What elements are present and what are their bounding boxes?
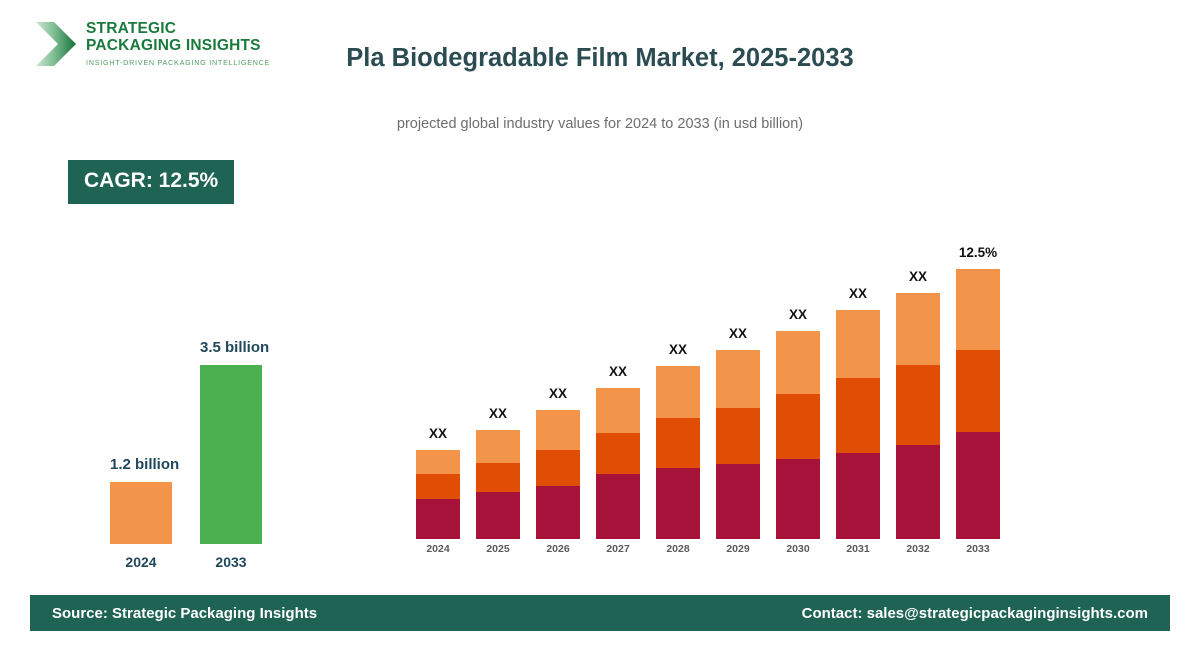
stacked-bar-segment[interactable] — [956, 350, 1000, 432]
footer-contact[interactable]: Contact: sales@strategicpackaginginsight… — [802, 605, 1148, 622]
stacked-bar-value: XX — [596, 364, 640, 379]
stacked-bar-label: 2028 — [656, 543, 700, 555]
stacked-bar-group: XX2027 — [596, 364, 640, 555]
stacked-bar[interactable] — [536, 410, 580, 539]
stacked-bar-label: 2027 — [596, 543, 640, 555]
stacked-bar-segment[interactable] — [716, 464, 760, 539]
stacked-bar-segment[interactable] — [536, 410, 580, 450]
stacked-bar-segment[interactable] — [536, 450, 580, 486]
stacked-bar-group: XX2029 — [716, 326, 760, 555]
stacked-bar-label: 2033 — [956, 543, 1000, 555]
stacked-bar[interactable] — [596, 388, 640, 539]
comparison-bar-group: 3.5 billion2033 — [200, 339, 262, 570]
cagr-badge: CAGR: 12.5% — [68, 160, 234, 204]
stacked-bar-group: XX2026 — [536, 386, 580, 555]
stacked-bar-value: XX — [896, 269, 940, 284]
comparison-bar-value: 3.5 billion — [200, 339, 262, 356]
comparison-bar-chart: 1.2 billion20243.5 billion2033 — [55, 300, 265, 570]
stacked-bar-group: XX2030 — [776, 307, 820, 555]
comparison-bar-group: 1.2 billion2024 — [110, 456, 172, 570]
stacked-bar-value: 12.5% — [956, 245, 1000, 260]
stacked-bar-value: XX — [536, 386, 580, 401]
stacked-bar-value: XX — [476, 406, 520, 421]
comparison-bar-label: 2033 — [200, 554, 262, 570]
page-title: Pla Biodegradable Film Market, 2025-2033 — [0, 44, 1200, 73]
stacked-bar-segment[interactable] — [896, 445, 940, 539]
stacked-bar[interactable] — [836, 310, 880, 539]
stacked-bar-label: 2030 — [776, 543, 820, 555]
stacked-bar-segment[interactable] — [656, 468, 700, 539]
stacked-bar-segment[interactable] — [956, 432, 1000, 539]
stacked-bar-segment[interactable] — [656, 418, 700, 468]
stacked-bar-segment[interactable] — [716, 350, 760, 408]
stacked-bar-group: 12.5%2033 — [956, 245, 1000, 555]
stacked-bar-segment[interactable] — [836, 310, 880, 378]
stacked-bar-group: XX2032 — [896, 269, 940, 555]
stacked-bar-group: XX2025 — [476, 406, 520, 555]
stacked-bar-group: XX2031 — [836, 286, 880, 555]
comparison-bar-value: 1.2 billion — [110, 456, 172, 473]
stacked-bar[interactable] — [476, 430, 520, 539]
comparison-bar[interactable] — [200, 365, 262, 544]
stacked-bar-value: XX — [836, 286, 880, 301]
stacked-bar-segment[interactable] — [596, 433, 640, 474]
stacked-bar-value: XX — [716, 326, 760, 341]
stacked-bar-segment[interactable] — [476, 463, 520, 492]
stacked-bar-segment[interactable] — [716, 408, 760, 464]
stacked-bar[interactable] — [776, 331, 820, 539]
stacked-bar-segment[interactable] — [836, 378, 880, 453]
comparison-bar[interactable] — [110, 482, 172, 544]
stacked-bar-label: 2029 — [716, 543, 760, 555]
stacked-bar[interactable] — [896, 293, 940, 539]
stacked-bar-label: 2024 — [416, 543, 460, 555]
stacked-bar-segment[interactable] — [836, 453, 880, 539]
stacked-bar-segment[interactable] — [476, 492, 520, 539]
stacked-bar-segment[interactable] — [416, 499, 460, 539]
footer-source: Source: Strategic Packaging Insights — [52, 605, 317, 622]
stacked-bar-segment[interactable] — [776, 394, 820, 459]
stacked-bar-segment[interactable] — [596, 474, 640, 539]
stacked-bar-segment[interactable] — [416, 450, 460, 474]
stacked-bar-label: 2025 — [476, 543, 520, 555]
stacked-bar-segment[interactable] — [896, 293, 940, 365]
stacked-bar-value: XX — [656, 342, 700, 357]
stacked-bar-label: 2032 — [896, 543, 940, 555]
footer-bar: Source: Strategic Packaging Insights Con… — [30, 595, 1170, 631]
stacked-bar-segment[interactable] — [536, 486, 580, 539]
stacked-bar-segment[interactable] — [956, 269, 1000, 350]
page-subtitle: projected global industry values for 202… — [0, 116, 1200, 132]
stacked-bar-segment[interactable] — [776, 459, 820, 539]
stacked-bar[interactable] — [956, 269, 1000, 539]
stacked-bar-label: 2026 — [536, 543, 580, 555]
stacked-bar-segment[interactable] — [476, 430, 520, 463]
comparison-bar-label: 2024 — [110, 554, 172, 570]
stacked-bar-value: XX — [416, 426, 460, 441]
stacked-bar-segment[interactable] — [896, 365, 940, 445]
stacked-bar-group: XX2024 — [416, 426, 460, 555]
stacked-bar-segment[interactable] — [596, 388, 640, 433]
stacked-bar-segment[interactable] — [416, 474, 460, 499]
stacked-bar[interactable] — [416, 450, 460, 539]
stacked-bar-value: XX — [776, 307, 820, 322]
stacked-bar[interactable] — [716, 350, 760, 539]
stacked-bar-label: 2031 — [836, 543, 880, 555]
stacked-bar[interactable] — [656, 366, 700, 539]
stacked-bar-segment[interactable] — [656, 366, 700, 418]
brand-line-1: STRATEGIC — [86, 20, 270, 37]
stacked-bar-segment[interactable] — [776, 331, 820, 394]
stacked-bar-chart: XX2024XX2025XX2026XX2027XX2028XX2029XX20… — [408, 200, 1008, 555]
stacked-bar-group: XX2028 — [656, 342, 700, 555]
